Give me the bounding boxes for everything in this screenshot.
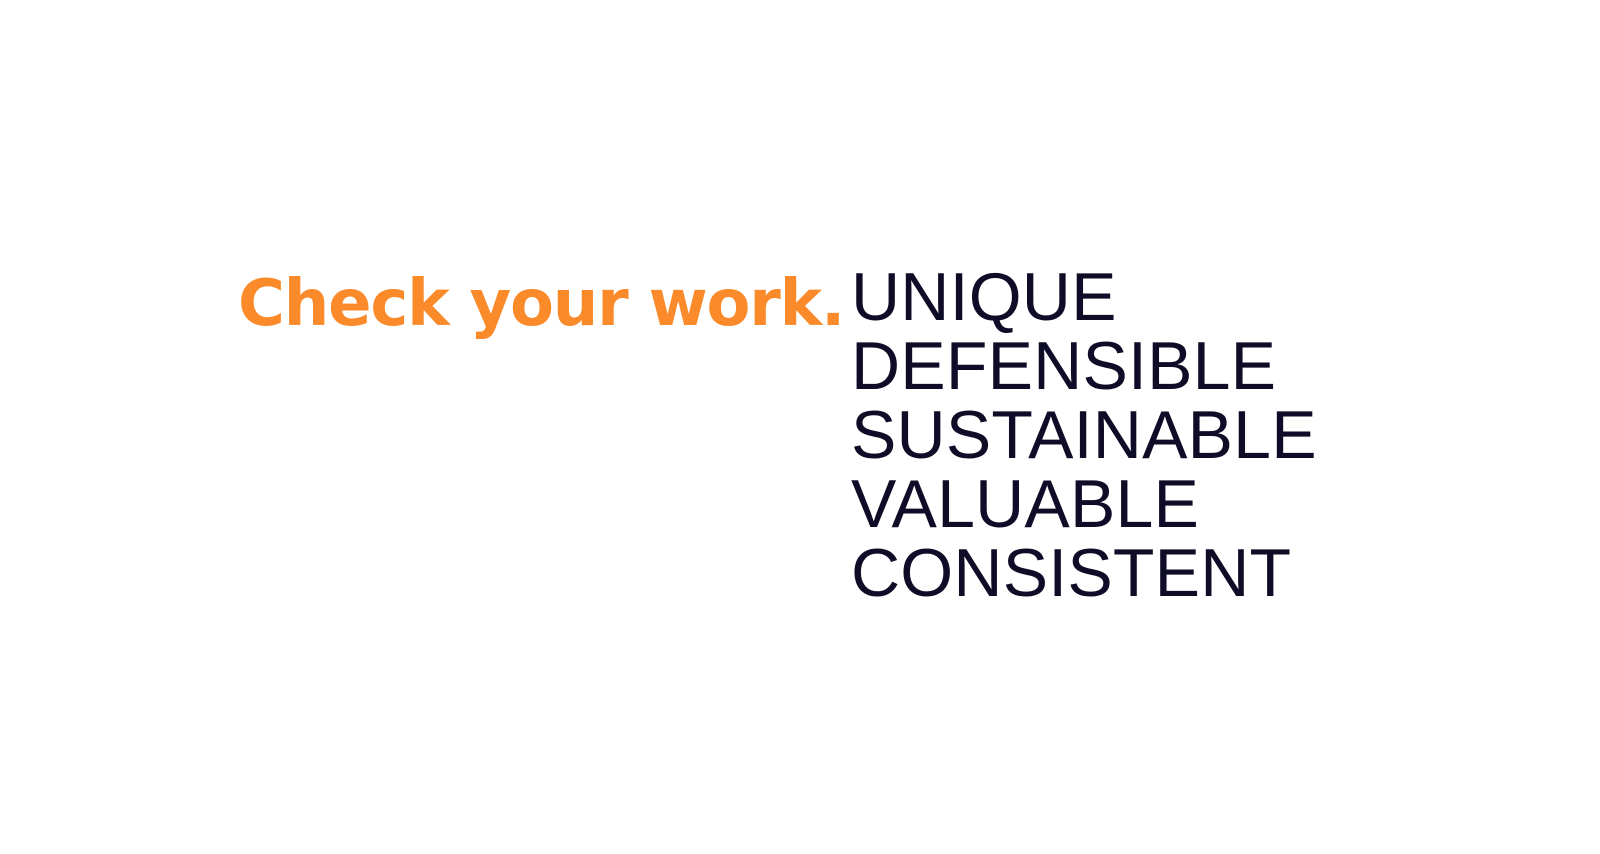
- list-item: CONSISTENT: [851, 539, 1317, 608]
- slide-canvas: Check your work. UNIQUE DEFENSIBLE SUSTA…: [0, 0, 1600, 854]
- list-item: VALUABLE: [851, 470, 1317, 539]
- page-title: Check your work.: [238, 271, 818, 339]
- list-item: DEFENSIBLE: [851, 332, 1317, 401]
- list-item: UNIQUE: [851, 263, 1317, 332]
- criteria-list: UNIQUE DEFENSIBLE SUSTAINABLE VALUABLE C…: [851, 263, 1317, 608]
- list-item: SUSTAINABLE: [851, 401, 1317, 470]
